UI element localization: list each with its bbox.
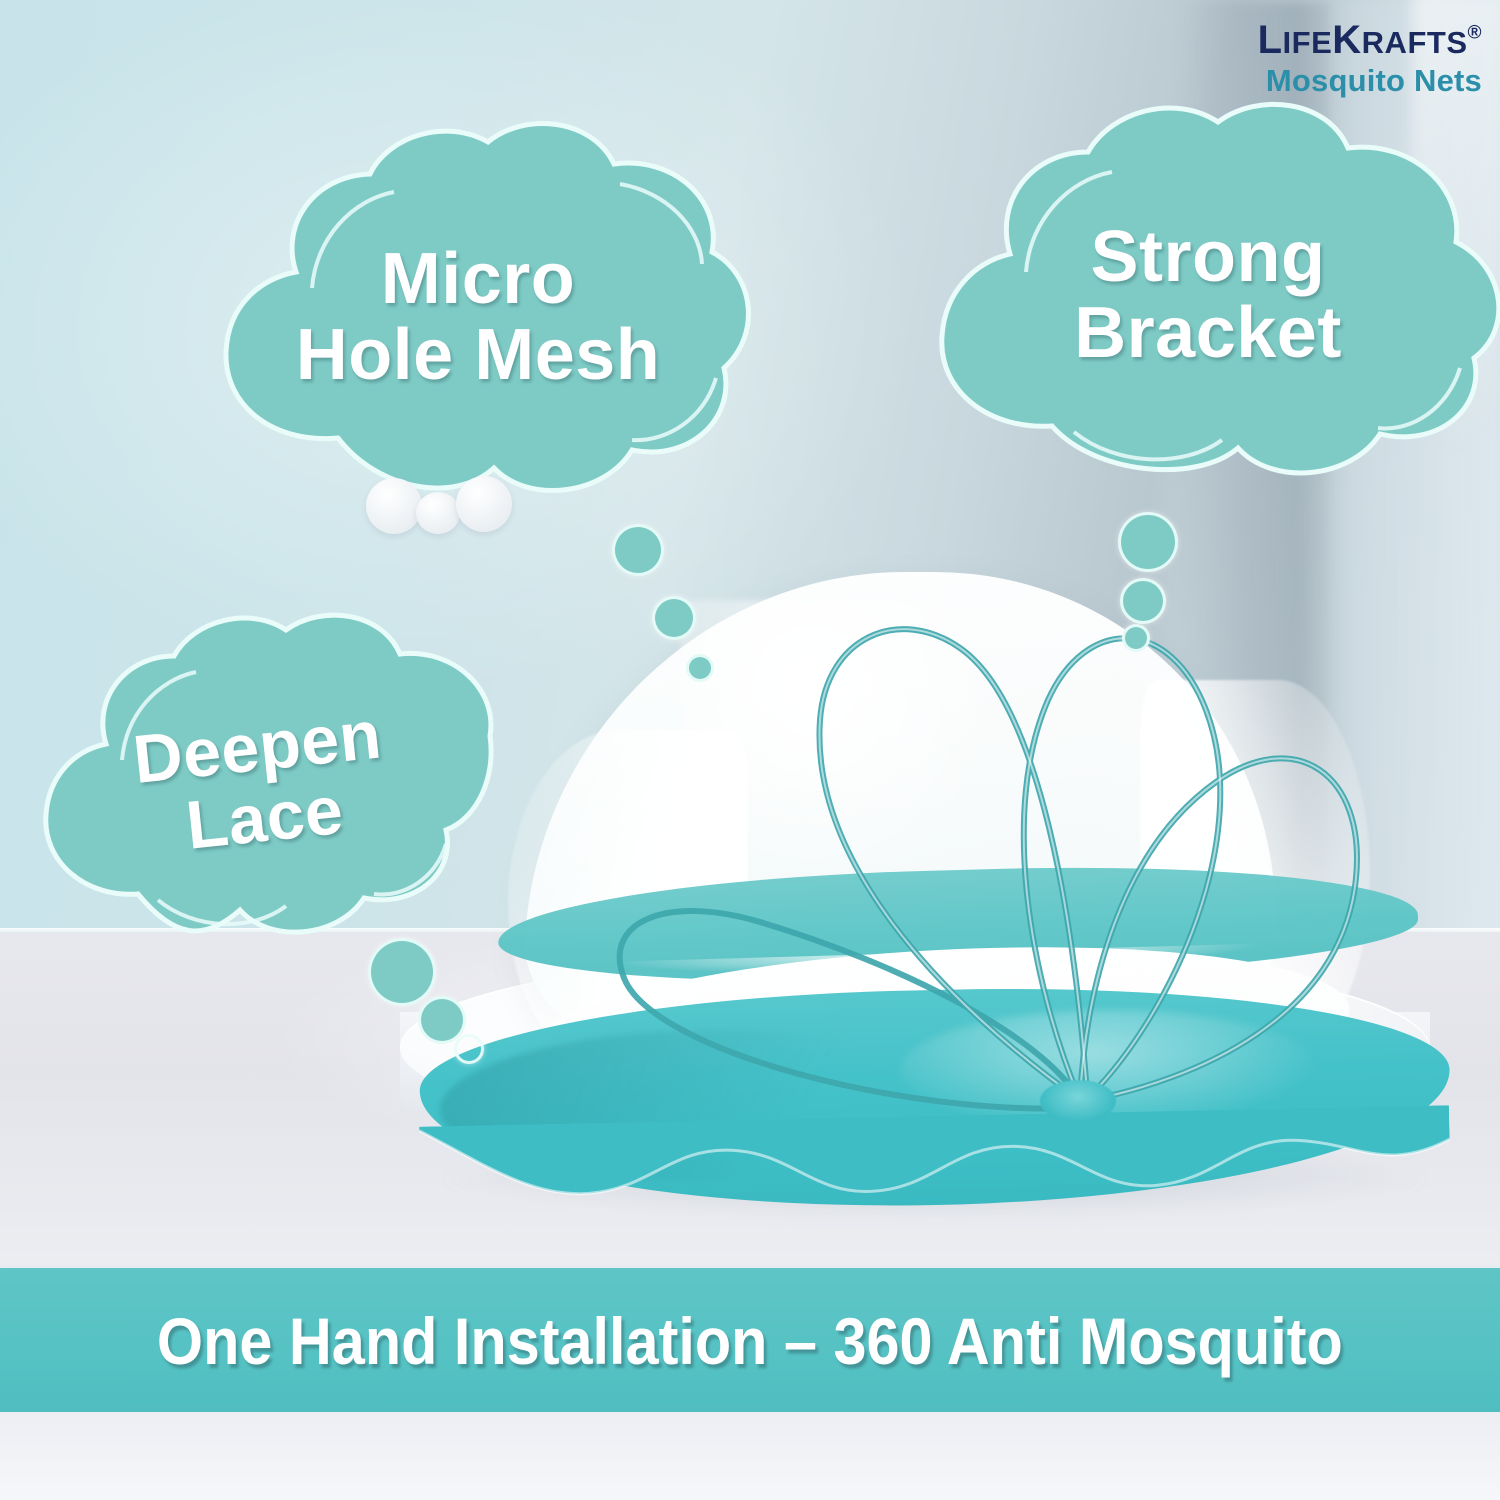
registered-trademark-icon: ®	[1468, 23, 1483, 44]
brand-name-k: K	[1332, 18, 1361, 62]
cloud-puff-large	[366, 478, 422, 534]
product-photo	[380, 560, 1500, 1290]
brand-logo: LIFEKRAFTS® Mosquito Nets	[1258, 20, 1482, 96]
thought-bubble-2	[652, 596, 696, 640]
cloud-puff-medium	[416, 492, 460, 534]
feature-cloud-strong-bracket: Strong Bracket	[908, 96, 1500, 496]
brand-name-rafts: RAFTS	[1362, 25, 1468, 60]
bottom-banner: One Hand Installation – 360 Anti Mosquit…	[0, 1268, 1500, 1414]
thought-bubble-1	[612, 524, 664, 576]
footer-spacer	[0, 1412, 1500, 1500]
brand-name-l: L	[1258, 18, 1283, 62]
feature-cloud-deepen-lace: Deepen Lace	[26, 608, 496, 958]
brand-name-ife: IFE	[1283, 25, 1333, 60]
thought-bubble-4	[1118, 512, 1178, 572]
feature-cloud-micro-hole-mesh: Micro Hole Mesh	[188, 118, 768, 518]
brand-name: LIFEKRAFTS®	[1258, 20, 1482, 60]
thought-bubble-7	[368, 938, 436, 1006]
thought-bubble-9	[454, 1034, 484, 1064]
brand-tagline: Mosquito Nets	[1258, 65, 1482, 96]
banner-headline: One Hand Installation – 360 Anti Mosquit…	[157, 1303, 1343, 1379]
promo-image-canvas: Micro Hole Mesh Strong Bracket	[0, 0, 1500, 1500]
cloud-puff-small	[456, 476, 512, 532]
bracket-pivot-point	[1040, 1080, 1116, 1122]
thought-bubble-5	[1120, 578, 1166, 624]
thought-bubble-6	[1122, 624, 1150, 652]
thought-bubble-3	[686, 654, 714, 682]
net-bracket-ribs	[380, 560, 1500, 1290]
